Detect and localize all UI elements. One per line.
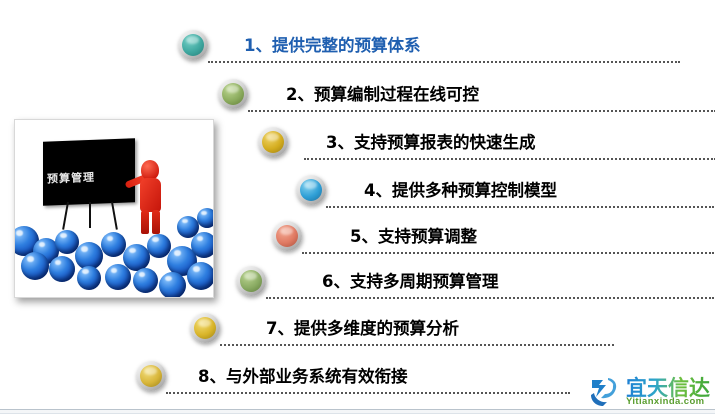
list-item[interactable]: 2、预算编制过程在线可控	[218, 79, 715, 125]
list-item-label: 7、提供多维度的预算分析	[266, 315, 459, 339]
audience-sphere	[77, 266, 101, 290]
bottom-separator	[0, 409, 715, 414]
audience-sphere	[133, 268, 158, 293]
audience-sphere	[197, 208, 214, 228]
list-item[interactable]: 4、提供多种预算控制模型	[296, 175, 715, 221]
presenter-head	[141, 160, 159, 180]
list-item[interactable]: 1、提供完整的预算体系	[178, 30, 715, 76]
slide-canvas: 预算管理	[0, 0, 715, 419]
list-item-label: 8、与外部业务系统有效衔接	[198, 363, 407, 387]
list-item-label: 4、提供多种预算控制模型	[364, 177, 557, 201]
bullet-olive-green	[218, 79, 248, 109]
bullet-green	[236, 266, 266, 296]
list-item-label: 5、支持预算调整	[350, 223, 477, 247]
easel-leg-left	[62, 202, 69, 230]
bullet-salmon	[272, 221, 302, 251]
list-item-label: 3、支持预算报表的快速生成	[326, 129, 535, 153]
company-logo: 宜天信达 Yitianxinda.com	[588, 372, 710, 410]
budget-management-illustration: 预算管理	[14, 119, 214, 298]
presenter-leg-left	[141, 210, 149, 234]
dotted-leader	[166, 392, 570, 394]
audience-sphere	[49, 256, 75, 282]
dotted-leader	[304, 158, 715, 160]
bullet-yellow	[190, 313, 220, 343]
easel-leg-center	[89, 202, 91, 228]
bullet-gold	[258, 127, 288, 157]
list-item[interactable]: 7、提供多维度的预算分析	[190, 313, 715, 359]
bullet-gloss	[266, 133, 279, 141]
bullet-gloss	[304, 181, 317, 189]
list-item[interactable]: 5、支持预算调整	[272, 221, 715, 267]
dotted-leader	[248, 110, 715, 112]
presenter-leg-right	[152, 210, 160, 234]
list-item-label: 1、提供完整的预算体系	[244, 32, 420, 56]
audience-sphere	[105, 264, 131, 290]
yitianxinda-swirl-icon	[588, 373, 622, 407]
audience-sphere	[187, 262, 214, 290]
dotted-leader	[208, 61, 680, 63]
audience-sphere	[101, 232, 126, 257]
bullet-amber	[136, 361, 166, 391]
bullet-gloss	[198, 319, 211, 327]
dotted-leader	[220, 344, 614, 346]
dotted-leader	[302, 252, 714, 254]
bullet-gloss	[244, 272, 257, 280]
dotted-leader	[266, 297, 714, 299]
logo-url: Yitianxinda.com	[626, 396, 705, 407]
presenter-body	[140, 178, 161, 212]
bullet-gloss	[144, 367, 157, 375]
bullet-gloss	[186, 36, 199, 44]
list-item-label: 6、支持多周期预算管理	[322, 268, 498, 292]
list-item[interactable]: 6、支持多周期预算管理	[236, 266, 715, 312]
bullet-gloss	[226, 85, 239, 93]
audience-sphere	[21, 252, 49, 280]
bullet-gloss	[280, 227, 293, 235]
illustration-canvas: 预算管理	[15, 120, 213, 297]
audience-sphere	[159, 272, 186, 298]
list-item[interactable]: 3、支持预算报表的快速生成	[258, 127, 715, 173]
blackboard-text: 预算管理	[47, 167, 133, 186]
bullet-blue	[296, 175, 326, 205]
audience-sphere	[177, 216, 199, 238]
list-item-label: 2、预算编制过程在线可控	[286, 81, 479, 105]
bullet-teal	[178, 30, 208, 60]
easel-leg-right	[111, 202, 118, 230]
dotted-leader	[326, 206, 714, 208]
